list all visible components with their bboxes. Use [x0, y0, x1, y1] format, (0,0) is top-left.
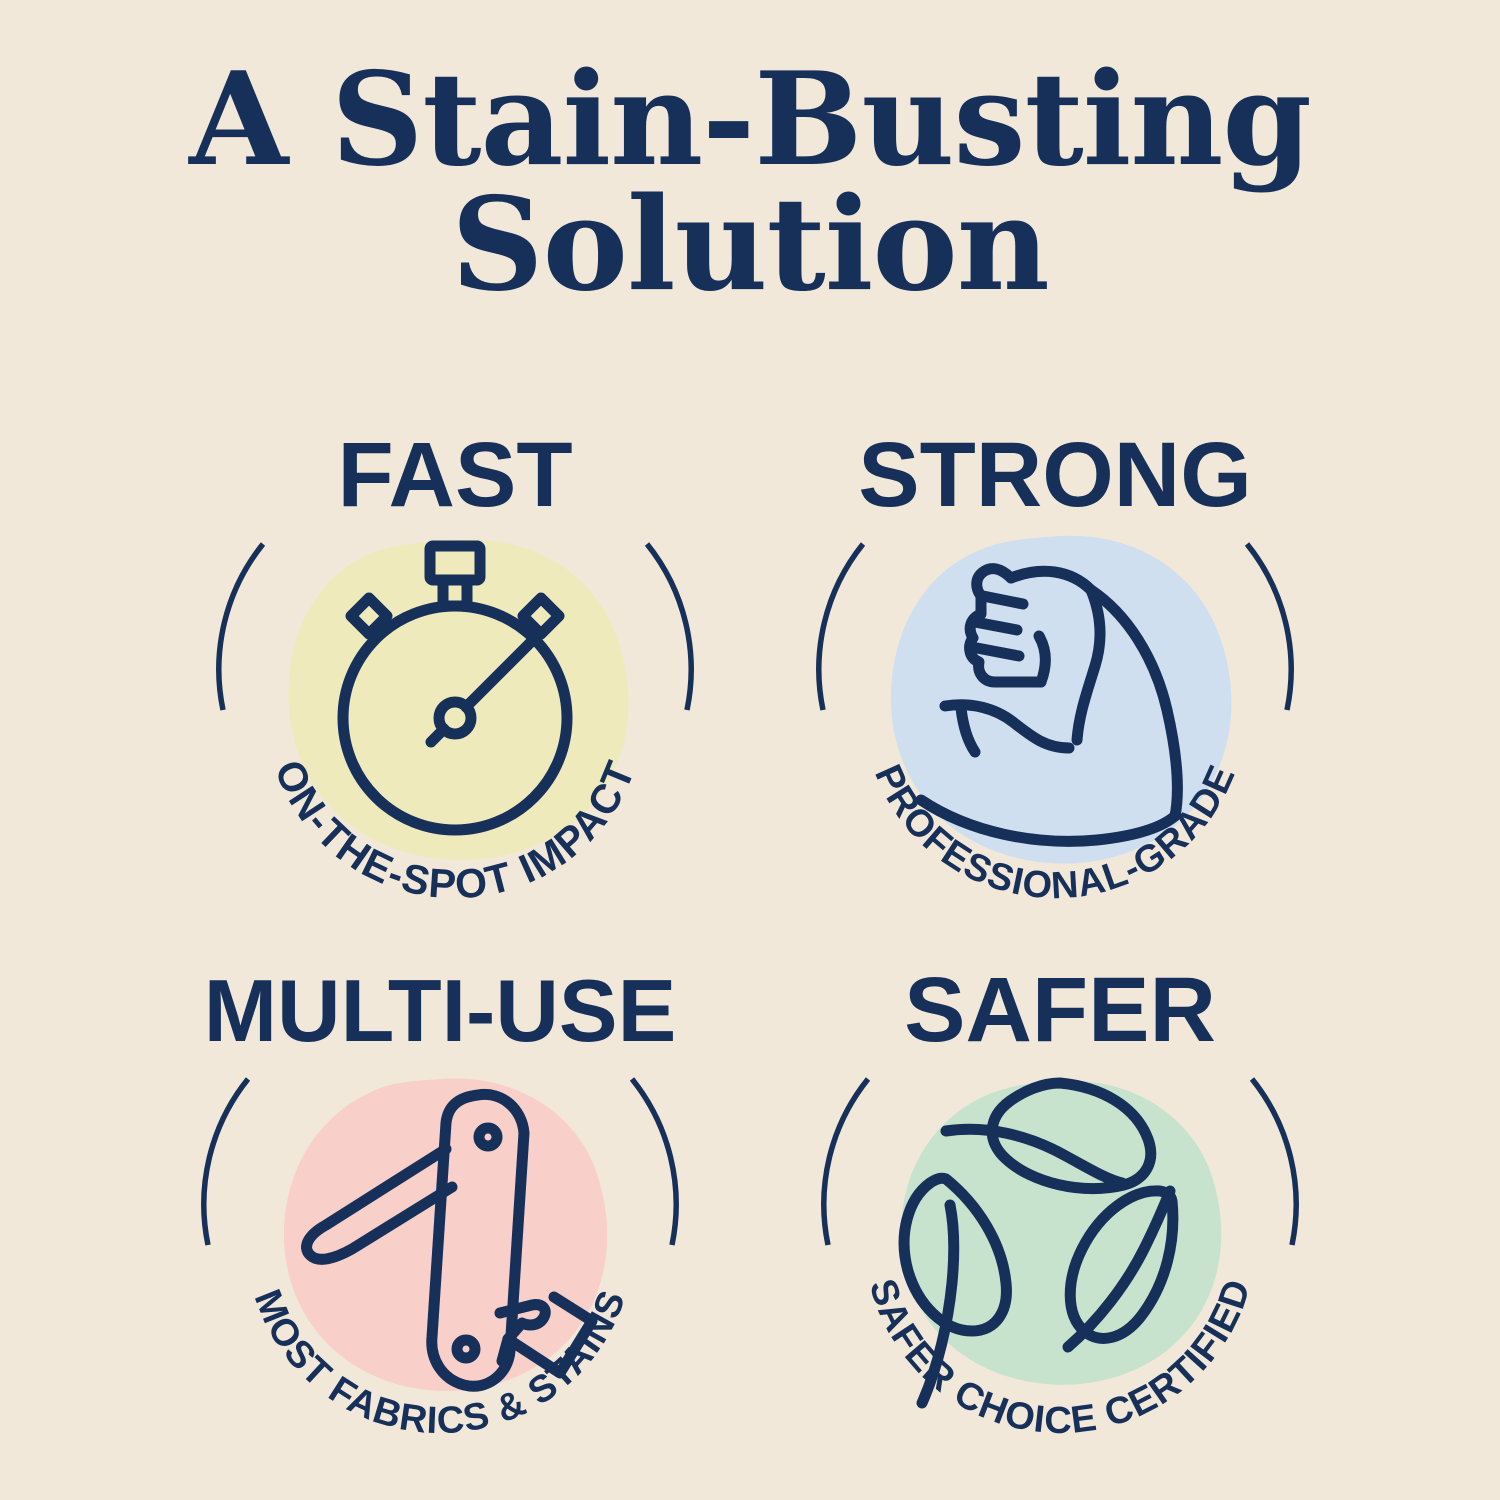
badge-right-arc [632, 1079, 676, 1245]
badge-right-arc [1247, 544, 1291, 710]
benefit-badge-fast: FAST ON-THE-SPOT IMPACT [155, 418, 755, 928]
badge-right-arc [1252, 1079, 1296, 1245]
badge-right-arc [647, 544, 691, 710]
benefit-badge-strong: STRONG PROFESSIONAL-GRADE [755, 418, 1355, 928]
badge-heading: FAST [337, 424, 572, 526]
infographic-page: A Stain-Busting Solution [0, 0, 1500, 1500]
badge-left-arc [824, 1079, 868, 1245]
badge-left-arc [819, 544, 863, 710]
page-title: A Stain-Busting Solution [0, 58, 1500, 309]
benefit-badge-grid: FAST ON-THE-SPOT IMPACT [0, 408, 1500, 1468]
badge-heading: SAFER [904, 959, 1216, 1061]
page-title-line-1: A Stain-Busting [0, 58, 1500, 183]
badge-heading: STRONG [858, 424, 1252, 526]
benefit-badge-safer: SAFER SAFER CHOICE CERTIFIED [760, 953, 1360, 1463]
badge-left-arc [219, 544, 263, 710]
badge-heading: MULTI-USE [204, 961, 677, 1060]
benefit-badge-multi-use: MULTI-USE MOST FABRICS & STAINS [140, 953, 740, 1463]
page-title-line-2: Solution [0, 183, 1500, 308]
badge-left-arc [204, 1079, 248, 1245]
